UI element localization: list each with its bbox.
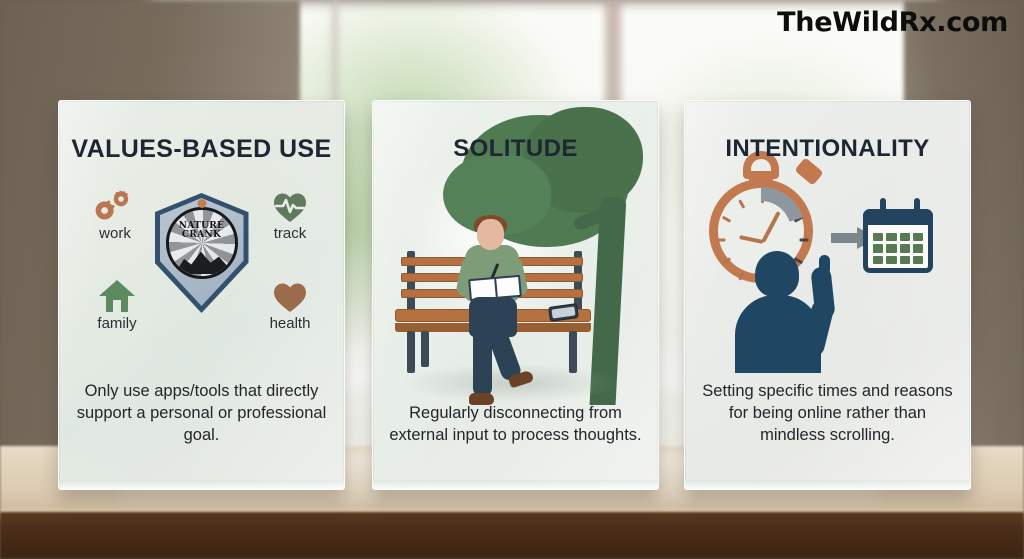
value-tag-track-label: track	[250, 225, 330, 242]
person-head	[755, 251, 799, 297]
person-pointing-finger	[819, 255, 830, 275]
logo-text: NATURE CRANK	[169, 222, 235, 241]
panel-2-body: Regularly disconnecting from external in…	[385, 403, 646, 447]
panel-3-body: Setting specific times and reasons for b…	[697, 381, 958, 447]
value-tag-track: track	[250, 185, 330, 242]
shield-top-dot	[197, 199, 206, 208]
person-head	[477, 219, 504, 250]
panel-3-title: INTENTIONALITY	[685, 135, 970, 163]
value-tag-family: family	[77, 275, 157, 332]
panel-1-artwork: work track family	[59, 179, 344, 349]
site-watermark: TheWildRx.com	[777, 7, 1008, 38]
house-icon	[77, 275, 157, 313]
bench-leg	[569, 331, 577, 373]
logo-line-2: CRANK	[182, 230, 221, 240]
heart-icon-svg	[273, 282, 307, 313]
panel-2-title: SOLITUDE	[373, 135, 658, 163]
value-tag-work: work	[75, 185, 155, 242]
person-silhouette-icon	[733, 251, 843, 373]
calendar-header	[863, 209, 933, 225]
panel-group: VALUES-BASED USE	[0, 0, 1024, 559]
gears-icon-svg	[94, 189, 136, 223]
calendar-icon	[863, 209, 933, 273]
panel-intentionality[interactable]: INTENTIONALITY	[684, 100, 971, 490]
bench-leg	[421, 331, 429, 367]
heart-icon	[250, 275, 330, 313]
value-tag-work-label: work	[75, 225, 155, 242]
value-tag-health-label: health	[250, 315, 330, 332]
panel-1-title: VALUES-BASED USE	[59, 135, 344, 164]
panel-1-body: Only use apps/tools that directly suppor…	[71, 381, 332, 447]
panel-values-based-use[interactable]: VALUES-BASED USE	[58, 100, 345, 490]
value-tag-family-label: family	[77, 315, 157, 332]
bench-leg	[407, 331, 415, 373]
panel-1-base	[59, 480, 344, 489]
gears-icon	[75, 185, 155, 223]
heart-pulse-icon-svg	[273, 192, 307, 223]
house-icon-svg	[98, 279, 136, 313]
heart-pulse-icon	[250, 185, 330, 223]
nature-crank-logo: NATURE CRANK	[166, 207, 238, 279]
calendar-grid	[873, 233, 923, 264]
value-tag-health: health	[250, 275, 330, 332]
panel-solitude[interactable]: SOLITUDE Regularly disconnecting from ex…	[372, 100, 659, 490]
